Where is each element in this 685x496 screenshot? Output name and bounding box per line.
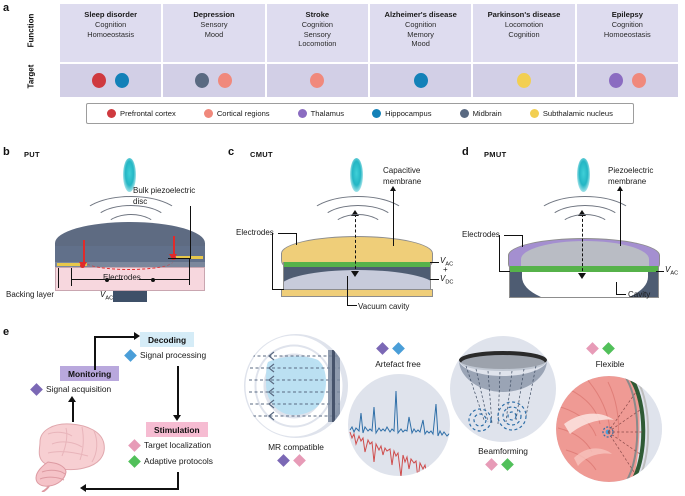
cmut-device — [281, 236, 433, 298]
legend-dot-prefrontal-cortex — [107, 109, 116, 118]
target-cell — [577, 64, 678, 97]
pmut-electrodes-leader-h1 — [504, 235, 522, 236]
flexible-illustration — [556, 376, 662, 482]
target-dot-midbrain — [195, 73, 209, 88]
target-dot-prefrontal-cortex — [92, 73, 106, 88]
stage-decoding[interactable]: Decoding — [140, 332, 194, 347]
diamond-green-icon — [602, 342, 615, 355]
target-dot-hippocampus — [414, 73, 428, 88]
put-disc-leader-v — [190, 206, 191, 258]
panel-a-disease-table: Function Target Sleep disorderCognitionH… — [14, 4, 678, 99]
function-cell: EpilepsyCognitionHomoeostasis — [577, 4, 678, 62]
cmut-wave-arcs — [303, 196, 411, 230]
target-dot-hippocampus — [115, 73, 129, 88]
legend-label: Subthalamic nucleus — [543, 109, 613, 118]
legend-dot-thalamus — [298, 109, 307, 118]
panel-letter-b: b — [3, 146, 10, 158]
diamond-pink-icon — [586, 342, 599, 355]
panel-letter-a: a — [3, 2, 9, 14]
put-disc-annotation: Bulk piezoelectric disc — [133, 186, 223, 207]
legend-label: Prefrontal cortex — [120, 109, 176, 118]
cmut-base-layer — [281, 289, 433, 297]
disease-title: Epilepsy — [577, 10, 678, 20]
flexible-diamonds — [588, 344, 613, 353]
diamond-pink-icon — [128, 439, 141, 452]
pmut-vac-label: VAC — [665, 265, 678, 277]
target-dot-cortical-regions — [632, 73, 646, 88]
disease-title: Alzheimer's disease — [370, 10, 471, 20]
pmut-membrane-annotation: Piezoelectric membrane — [608, 166, 685, 187]
put-electrode-lead-right-h — [139, 279, 189, 280]
pmut-title: PMUT — [484, 150, 506, 159]
legend-item-subthalamic-nucleus: Subthalamic nucleus — [530, 109, 613, 118]
cmut-electrodes-leader-v2 — [272, 233, 273, 289]
pmut-ultrasound-beam — [577, 158, 590, 192]
function-item: Cognition — [370, 20, 471, 30]
put-disc-leader-h — [168, 258, 191, 259]
flexible-label: Flexible — [570, 359, 650, 369]
cmut-vdc-label: VDC — [440, 274, 453, 286]
arrowhead-to-decoding — [134, 332, 140, 340]
pmut-electrodes-leader-h2 — [499, 271, 510, 272]
pmut-device — [508, 238, 660, 298]
function-item: Mood — [163, 30, 264, 40]
target-cell — [473, 64, 574, 97]
diamond-pink-icon — [293, 454, 306, 467]
put-electrode-lead-right-v — [189, 259, 190, 285]
beamforming-label: Beamforming — [448, 446, 558, 456]
diamond-purple-icon — [30, 383, 43, 396]
bullet-signal-acquisition: Signal acquisition — [32, 384, 111, 394]
function-cell: Sleep disorderCognitionHomoeostasis — [60, 4, 161, 62]
function-item: Cognition — [577, 20, 678, 30]
pmut-electrodes-leader-v1 — [522, 235, 523, 247]
disease-title: Sleep disorder — [60, 10, 161, 20]
function-item: Locomotion — [473, 20, 574, 30]
function-item: Memory — [370, 30, 471, 40]
function-item: Cognition — [267, 20, 368, 30]
arrowhead-to-stimulation — [173, 415, 181, 421]
target-dot-thalamus — [609, 73, 623, 88]
pmut-membrane-arrowhead — [617, 186, 623, 191]
arrow-decoding-to-stimulation — [177, 366, 179, 416]
legend-item-cortical-regions: Cortical regions — [204, 109, 270, 118]
artefact-free-illustration — [348, 374, 450, 476]
target-row — [60, 64, 678, 97]
legend-item-hippocampus: Hippocampus — [372, 109, 431, 118]
target-cell — [60, 64, 161, 97]
put-polarization-loop — [85, 253, 173, 270]
artefact-free-label: Artefact free — [352, 359, 444, 369]
cmut-electrodes-leader-v1 — [296, 233, 297, 245]
diamond-green-icon — [501, 458, 514, 471]
cmut-arrowhead-down — [351, 271, 359, 277]
diamond-purple-icon — [376, 342, 389, 355]
function-item: Sensory — [267, 30, 368, 40]
diamond-green-icon — [128, 455, 141, 468]
mr-compatible-label: MR compatible — [240, 442, 352, 452]
cmut-electrodes-leader-h1 — [278, 233, 296, 234]
function-item: Cognition — [473, 30, 574, 40]
cmut-ultrasound-beam — [350, 158, 363, 192]
bullet-adaptive-protocols: Adaptive protocols — [130, 456, 213, 466]
cmut-vac-leader — [430, 262, 439, 263]
legend-label: Midbrain — [473, 109, 502, 118]
diamond-blue-icon — [124, 349, 137, 362]
diamond-purple-icon — [277, 454, 290, 467]
panel-letter-c: c — [228, 146, 234, 158]
diamond-blue-icon — [392, 342, 405, 355]
pmut-vac-leader — [656, 271, 664, 272]
stage-stimulation[interactable]: Stimulation — [146, 422, 208, 437]
legend-label: Cortical regions — [217, 109, 270, 118]
mr-compatible-diamonds — [279, 456, 304, 465]
pmut-membrane-inner — [521, 241, 649, 267]
bullet-target-localization: Target localization — [130, 440, 211, 450]
pmut-wave-arcs — [530, 196, 638, 230]
legend-item-thalamus: Thalamus — [298, 109, 344, 118]
pmut-membrane-leader — [620, 190, 621, 246]
function-item: Homoeostasis — [577, 30, 678, 40]
cmut-membrane-leader — [393, 190, 394, 246]
target-cell — [163, 64, 264, 97]
pmut-electrodes-label: Electrodes — [462, 230, 500, 241]
function-cell: Parkinson's diseaseLocomotionCognition — [473, 4, 574, 62]
legend-item-prefrontal-cortex: Prefrontal cortex — [107, 109, 176, 118]
arrow-monitoring-to-decoding-v — [94, 336, 96, 370]
target-legend: Prefrontal cortexCortical regionsThalamu… — [86, 103, 634, 124]
beamforming-diamonds — [487, 460, 512, 469]
cmut-electrodes-leader-h2 — [272, 289, 284, 290]
cmut-title: CMUT — [250, 150, 273, 159]
arrow-monitoring-to-decoding-h — [94, 336, 136, 338]
legend-label: Hippocampus — [385, 109, 431, 118]
put-backing-leader — [58, 268, 59, 288]
function-row: Sleep disorderCognitionHomoeostasisDepre… — [60, 4, 678, 62]
cmut-cavity-leader-h — [347, 305, 357, 306]
artefact-free-diamonds — [378, 344, 403, 353]
disease-title: Depression — [163, 10, 264, 20]
row-label-target: Target — [27, 48, 36, 106]
put-title: PUT — [24, 150, 40, 159]
put-vac-block — [113, 291, 147, 302]
pmut-cavity-leader-v — [616, 282, 617, 294]
pmut-electrodes-leader-v2 — [499, 235, 500, 271]
beamforming-illustration — [450, 336, 556, 442]
function-cell: Alzheimer's diseaseCognitionMemoryMood — [370, 4, 471, 62]
function-item: Homoeostasis — [60, 30, 161, 40]
disease-grid: Sleep disorderCognitionHomoeostasisDepre… — [60, 4, 678, 97]
put-polarization-node-left — [80, 263, 85, 268]
disease-title: Stroke — [267, 10, 368, 20]
pmut-cavity-label: Cavity — [628, 290, 650, 301]
target-dot-subthalamic-nucleus — [517, 73, 531, 88]
diamond-pink-icon — [485, 458, 498, 471]
brain-illustration — [18, 418, 114, 492]
cmut-cavity-leader-v — [347, 276, 348, 305]
bullet-signal-processing: Signal processing — [126, 350, 206, 360]
legend-dot-hippocampus — [372, 109, 381, 118]
target-cell — [370, 64, 471, 97]
legend-label: Thalamus — [311, 109, 344, 118]
put-vac-label: VAC — [100, 290, 113, 302]
legend-dot-cortical-regions — [204, 109, 213, 118]
cmut-vdc-leader — [430, 279, 439, 280]
pmut-cavity-leader-h — [616, 294, 626, 295]
pmut-arrowhead-down — [578, 273, 586, 279]
panel-e-closed-loop: Monitoring Signal acquisition Decoding S… — [0, 322, 685, 496]
put-electrode-lead-left-v — [71, 268, 72, 286]
stage-monitoring[interactable]: Monitoring — [60, 366, 119, 381]
arrowhead-to-monitoring — [68, 396, 76, 402]
target-cell — [267, 64, 368, 97]
put-lead-dot-right — [151, 278, 155, 282]
legend-item-midbrain: Midbrain — [460, 109, 502, 118]
function-item: Mood — [370, 39, 471, 49]
mr-compatible-illustration — [244, 334, 348, 438]
function-item: Cognition — [60, 20, 161, 30]
function-item: Locomotion — [267, 39, 368, 49]
disease-title: Parkinson's disease — [473, 10, 574, 20]
panel-letter-d: d — [462, 146, 469, 158]
cmut-cavity-label: Vacuum cavity — [358, 302, 409, 313]
target-dot-cortical-regions — [218, 73, 232, 88]
cmut-electrodes-label: Electrodes — [236, 228, 274, 239]
put-electrodes-label: Electrodes — [103, 273, 141, 284]
function-cell: StrokeCognitionSensoryLocomotion — [267, 4, 368, 62]
function-cell: DepressionSensoryMood — [163, 4, 264, 62]
target-dot-cortical-regions — [310, 73, 324, 88]
cmut-membrane-arrowhead — [390, 186, 396, 191]
function-item: Sensory — [163, 20, 264, 30]
put-backing-label: Backing layer — [6, 290, 54, 301]
pmut-piezoelectric-membrane — [508, 238, 660, 268]
legend-dot-midbrain — [460, 109, 469, 118]
cmut-membrane-annotation: Capacitive membrane — [383, 166, 463, 187]
legend-dot-subthalamic-nucleus — [530, 109, 539, 118]
